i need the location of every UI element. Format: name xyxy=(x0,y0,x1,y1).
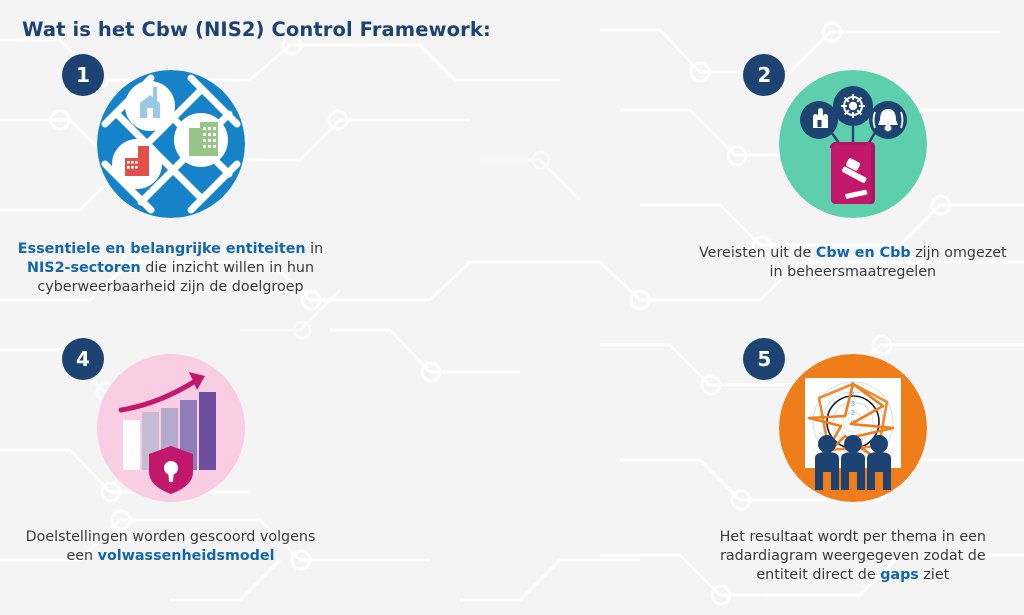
item-number-badge-5: 5 xyxy=(743,338,785,380)
item-card-5: 5 54 32 0 xyxy=(341,332,682,615)
item-card-1: 1 xyxy=(0,48,341,332)
item-card-3: 3 € xyxy=(683,48,1024,332)
item-number-badge-4: 4 xyxy=(62,338,104,380)
infographic-page: Wat is het Cbw (NIS2) Control Framework:… xyxy=(0,0,1024,615)
item-icon-4 xyxy=(0,354,341,502)
items-grid: 1 xyxy=(0,48,1024,615)
item-icon-1 xyxy=(0,70,341,218)
item-number-badge-1: 1 xyxy=(62,54,104,96)
caption-highlight: volwassenheidsmodel xyxy=(98,548,275,564)
caption-text: in xyxy=(306,241,324,257)
item-card-4: 4 xyxy=(0,332,341,615)
caption-highlight: Essentiele en belangrijke entiteiten xyxy=(18,241,306,257)
page-title: Wat is het Cbw (NIS2) Control Framework: xyxy=(22,18,491,41)
sector-entities-network-icon xyxy=(97,70,245,218)
item-card-6: 6 xyxy=(683,332,1024,615)
caption-highlight: NIS2-sectoren xyxy=(27,260,141,276)
item-caption-1: Essentiele en belangrijke entiteiten in … xyxy=(0,240,341,297)
maturity-growth-chart-shield-icon xyxy=(97,354,245,502)
item-card-2: 2 xyxy=(341,48,682,332)
item-caption-4: Doelstellingen worden gescoord volgens e… xyxy=(0,528,341,566)
